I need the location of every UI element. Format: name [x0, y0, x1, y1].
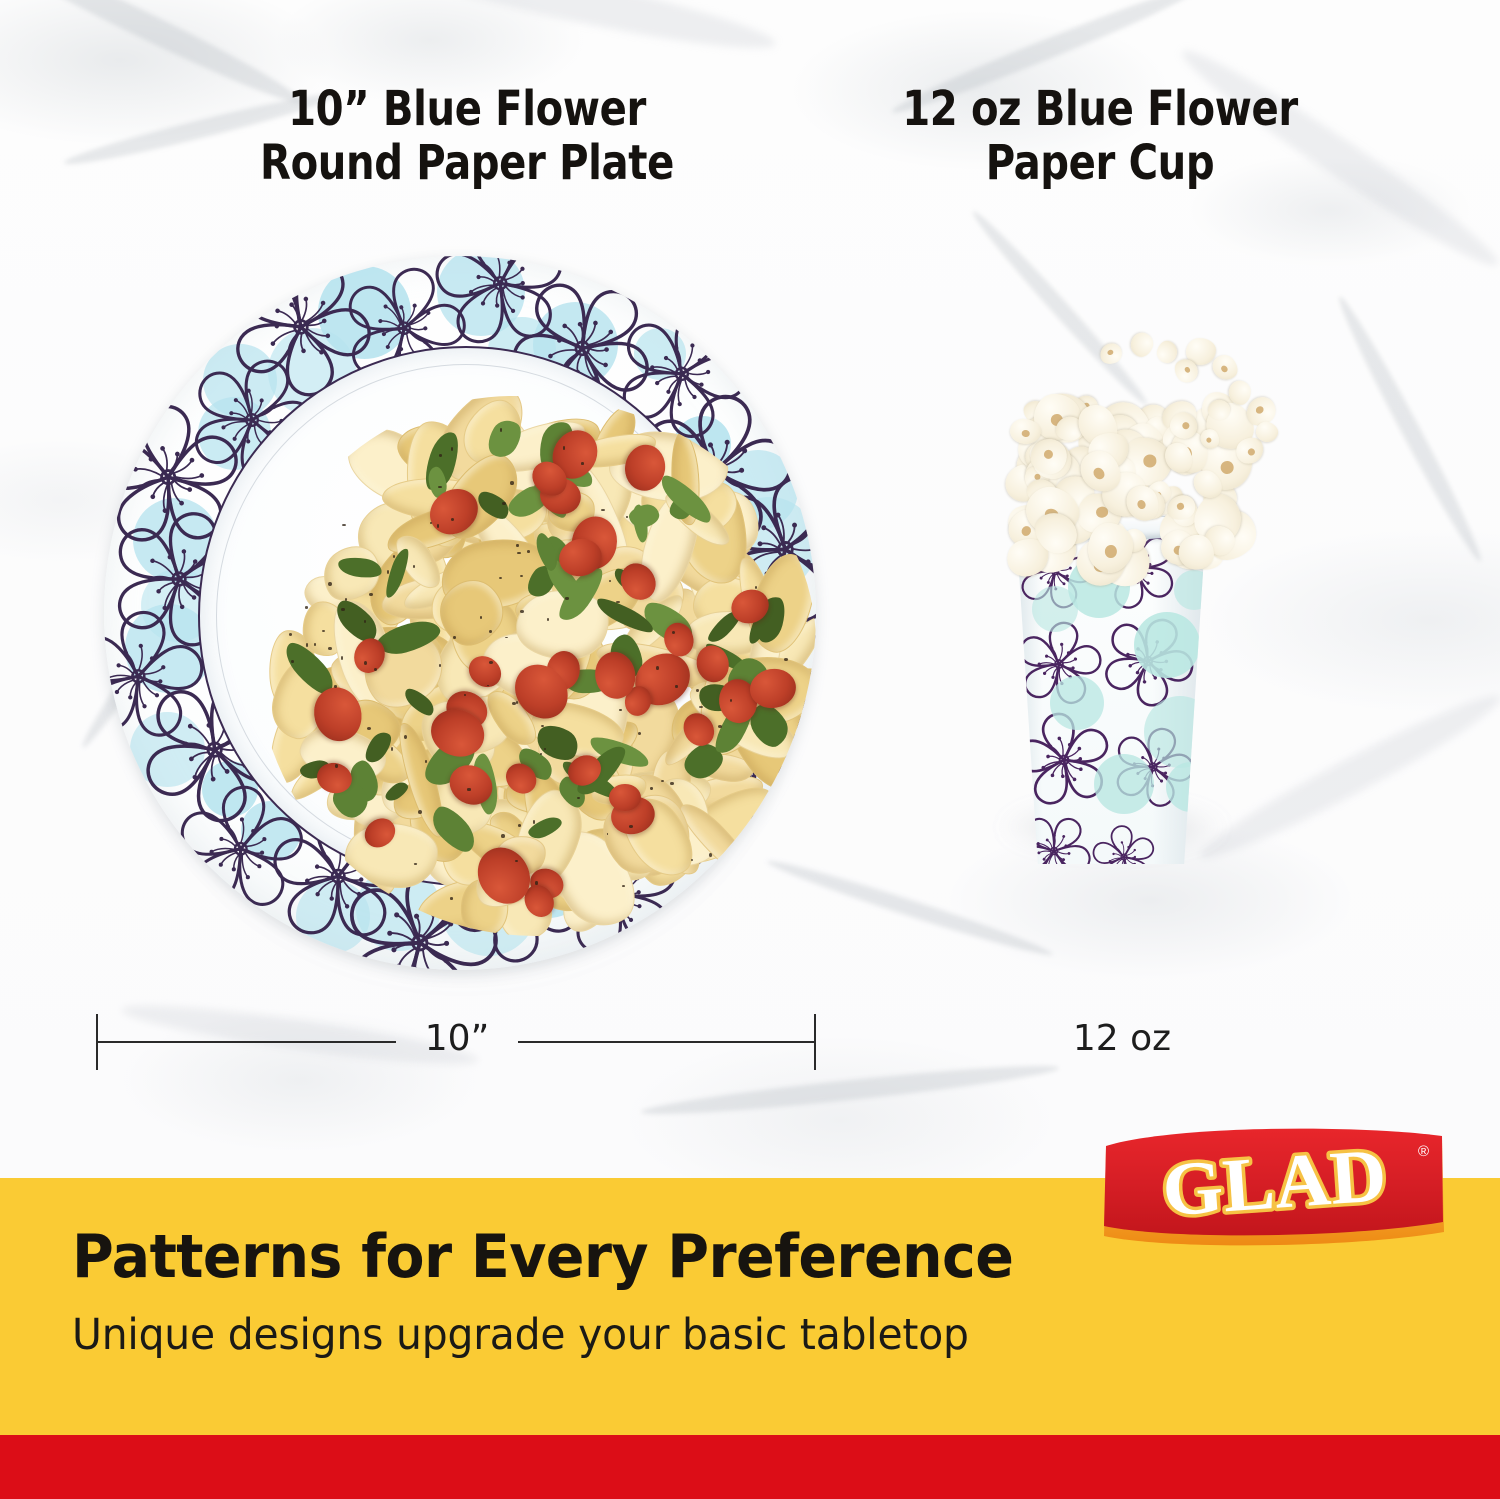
paper-plate-product — [98, 248, 822, 988]
plate-disc — [104, 256, 816, 970]
plate-dimension-line: 10” — [96, 1014, 816, 1070]
plate-heading-line2: Round Paper Plate — [248, 136, 685, 190]
popcorn-pile — [960, 330, 1280, 560]
product-infographic: 10” Blue Flower Round Paper Plate 12 oz … — [0, 0, 1500, 1499]
pasta-food-mound — [256, 396, 816, 936]
cup-heading: 12 oz Blue Flower Paper Cup — [895, 82, 1304, 190]
cup-heading-line2: Paper Cup — [895, 136, 1304, 190]
plate-heading-line1: 10” Blue Flower — [248, 82, 685, 136]
paper-cup-product — [960, 330, 1280, 890]
dimension-rule-left — [96, 1041, 396, 1043]
logo-wordmark: GLAD — [1160, 1133, 1389, 1233]
glad-logo-svg: GLAD GLAD ® — [1100, 1126, 1446, 1250]
plate-size-label: 10” — [402, 1018, 512, 1059]
red-accent-bar — [0, 1435, 1500, 1499]
cup-heading-line1: 12 oz Blue Flower — [895, 82, 1304, 136]
cup-size-label: 12 oz — [1012, 1018, 1232, 1059]
glad-logo: GLAD GLAD ® — [1100, 1126, 1446, 1250]
logo-registered-icon: ® — [1418, 1143, 1429, 1160]
plate-heading: 10” Blue Flower Round Paper Plate — [248, 82, 685, 190]
banner-subtitle: Unique designs upgrade your basic tablet… — [72, 1310, 1079, 1360]
dimension-rule-right — [518, 1041, 815, 1043]
banner-title: Patterns for Every Preference — [72, 1222, 1032, 1292]
